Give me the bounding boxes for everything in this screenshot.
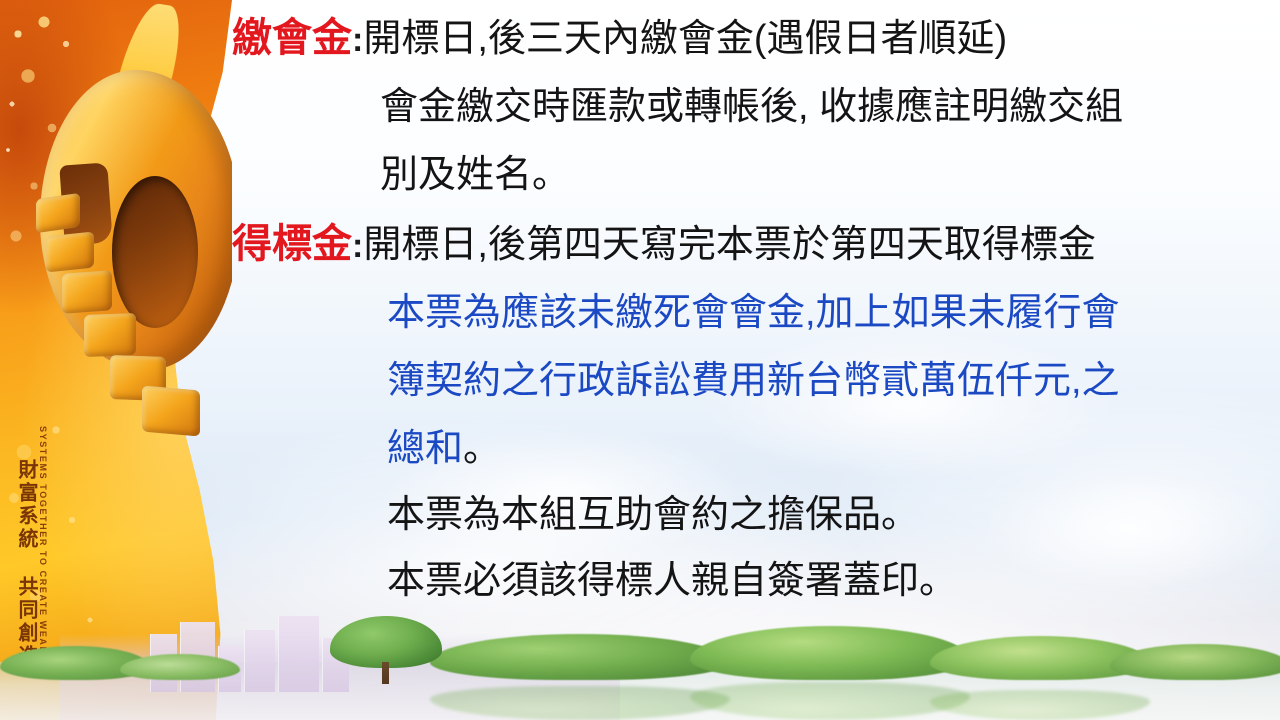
emblem-facet: [84, 313, 136, 357]
emblem-hole: [112, 176, 198, 328]
section-2-colon: :: [352, 229, 363, 263]
section-2-line-4-row: 總和。: [232, 430, 1252, 468]
section-1-line-3-row: 別及姓名。: [232, 156, 1252, 194]
section-2-line-2: 本票為應該未繳死會會金,加上如果未履行會: [387, 294, 1120, 332]
section-2-line-6-row: 本票必須該得標人親自簽署蓋印。: [232, 562, 1252, 600]
foreground-tree-icon: [330, 616, 442, 680]
section-2-line-1: 開標日,後第四天寫完本票於第四天取得標金: [363, 226, 1096, 264]
emblem-facet: [142, 385, 200, 436]
section-2-line-4: 總和: [387, 430, 463, 468]
tree-trunk: [382, 662, 389, 684]
emblem-facet: [36, 193, 80, 233]
section-1-line-1: 開標日,後三天內繳會金(遇假日者順延): [363, 20, 1007, 58]
section-2-line-6: 本票必須該得標人親自簽署蓋印。: [387, 562, 957, 600]
section-1-line-2-row: 會金繳交時匯款或轉帳後, 收據應註明繳交組: [232, 88, 1252, 126]
slide-canvas: 財富系統 共同創造 SYSTEMS TOGETHER TO CREATE WEA…: [0, 0, 1280, 720]
emblem-facet: [62, 270, 112, 313]
scenery-footer: [0, 590, 1280, 720]
section-1-line-3: 別及姓名。: [380, 156, 570, 194]
tree-cluster: [120, 654, 240, 680]
section-2-heading-line: 得標金:開標日,後第四天寫完本票於第四天取得標金: [232, 224, 1252, 264]
section-1-label: 繳會金: [232, 18, 352, 58]
emblem-facet: [46, 231, 94, 272]
section-2-label: 得標金: [232, 224, 352, 264]
section-2-line-5: 本票為本組互助會約之擔保品。: [387, 496, 919, 534]
section-1-colon: :: [352, 23, 363, 57]
tree-canopy: [330, 616, 442, 668]
building-silhouette: [278, 616, 319, 692]
section-2-line-4-period: 。: [463, 430, 501, 468]
gold-coin-emblem-icon: [18, 58, 232, 438]
slide-body-content: 繳會金:開標日,後三天內繳會金(遇假日者順延) 會金繳交時匯款或轉帳後, 收據應…: [232, 18, 1252, 600]
tree-cluster: [690, 626, 970, 680]
section-2-line-5-row: 本票為本組互助會約之擔保品。: [232, 496, 1252, 534]
section-2-line-3: 簿契約之行政訴訟費用新台幣貳萬伍仟元,之: [387, 362, 1120, 400]
section-2-line-3-row: 簿契約之行政訴訟費用新台幣貳萬伍仟元,之: [232, 362, 1252, 400]
building-silhouette: [244, 630, 275, 692]
section-1-line-2: 會金繳交時匯款或轉帳後, 收據應註明繳交組: [380, 88, 1123, 126]
section-2-line-2-row: 本票為應該未繳死會會金,加上如果未履行會: [232, 294, 1252, 332]
section-1-heading-line: 繳會金:開標日,後三天內繳會金(遇假日者順延): [232, 18, 1252, 58]
